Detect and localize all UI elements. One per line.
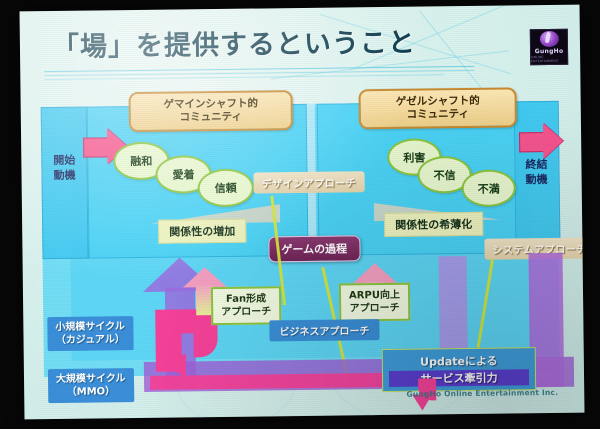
arpu-approach-line2: アプローチ — [349, 302, 400, 316]
end-motive-label: 終結 動機 — [517, 157, 555, 187]
exit-arrow-icon — [519, 123, 563, 160]
logo-subtext: ONLINE ENTERTAINMENT — [531, 55, 567, 63]
large-cycle-line1: 大規模サイクル — [56, 372, 126, 386]
game-process-box: ゲームの過程 — [268, 235, 360, 262]
small-cycle-label: 小規模サイクル （カジュアル） — [47, 316, 133, 351]
start-motive-line2: 動機 — [45, 168, 83, 183]
business-approach-chip: ビジネスアプローチ — [269, 319, 379, 341]
fan-approach-line1: Fan形成 — [221, 292, 271, 306]
screenshot-root: 「場」を提供するということ GungHo ONLINE ENTERTAINMEN… — [0, 0, 600, 429]
logo-orb-icon — [539, 31, 558, 47]
loop-arrow-head — [166, 353, 186, 377]
relation-dilution-banner: 関係性の希薄化 — [384, 212, 483, 237]
copyright-credit: GungHo Online Entertainment Inc. — [406, 388, 558, 399]
arpu-approach-box: ARPU向上 アプローチ — [339, 283, 410, 322]
gesellschaft-header: ゲゼルシャフト的 コミュニティ — [359, 87, 517, 129]
end-motive-line2: 動機 — [518, 172, 556, 187]
update-line1: Updateによる — [389, 352, 529, 370]
start-motive-line1: 開始 — [45, 153, 83, 168]
fan-approach-line2: アプローチ — [221, 305, 271, 319]
pink-loop-arrow-icon — [155, 309, 220, 376]
gungho-logo: GungHo ONLINE ENTERTAINMENT — [530, 29, 568, 65]
large-cycle-line2: （MMO） — [56, 385, 126, 399]
start-motive-label: 開始 動機 — [45, 153, 83, 183]
fan-approach-box: Fan形成 アプローチ — [211, 286, 281, 325]
arpu-approach-line1: ARPU向上 — [349, 289, 400, 303]
gesellschaft-header-line2: コミュニティ — [371, 108, 505, 123]
presentation-slide: 「場」を提供するということ GungHo ONLINE ENTERTAINMEN… — [20, 5, 585, 420]
relation-increase-banner: 関係性の増加 — [158, 219, 246, 244]
design-approach-tag: デザインアプローチ — [254, 171, 365, 193]
update-driving-force-box: Updateによる サービス牽引力 — [382, 347, 537, 392]
slide-title: 「場」を提供するということ — [52, 21, 416, 64]
arrow-head — [543, 123, 563, 159]
small-cycle-line1: 小規模サイクル — [55, 320, 125, 334]
large-cycle-label: 大規模サイクル （MMO） — [48, 368, 134, 403]
update-line2: サービス牽引力 — [389, 369, 529, 387]
loop-segment — [193, 323, 217, 357]
small-cycle-line2: （カジュアル） — [55, 333, 125, 347]
gemeinschaft-header: ゲマインシャフト的 コミュニティ — [129, 90, 293, 132]
gemeinschaft-header-line2: コミュニティ — [141, 110, 281, 125]
